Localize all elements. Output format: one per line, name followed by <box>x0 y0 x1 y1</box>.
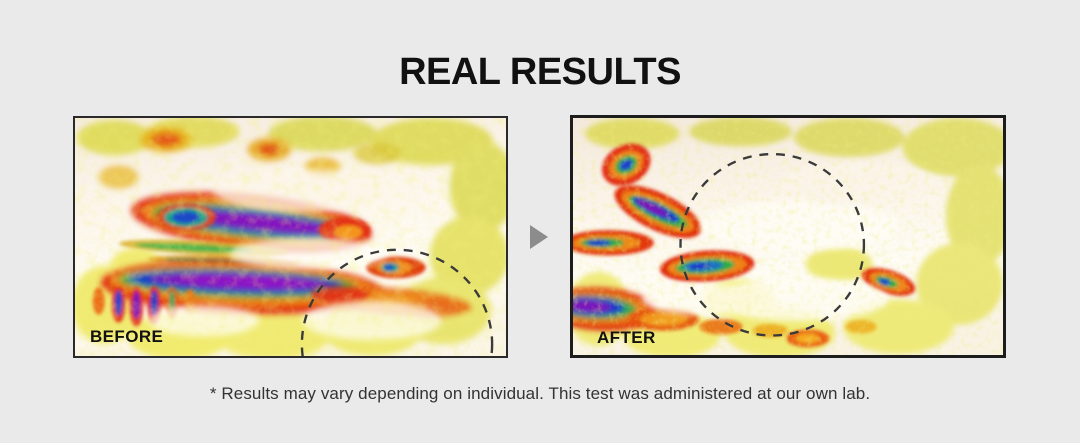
page-title: REAL RESULTS <box>0 52 1080 92</box>
after-heatmap-image <box>573 118 1003 355</box>
real-results-section: REAL RESULTS <box>0 0 1080 443</box>
arrow-right-icon <box>530 225 548 249</box>
before-heatmap-image <box>75 118 506 356</box>
disclaimer-text: * Results may vary depending on individu… <box>0 384 1080 404</box>
before-label: BEFORE <box>90 327 163 347</box>
after-image-panel <box>570 115 1006 358</box>
after-label: AFTER <box>597 328 656 348</box>
before-image-panel <box>73 116 508 358</box>
